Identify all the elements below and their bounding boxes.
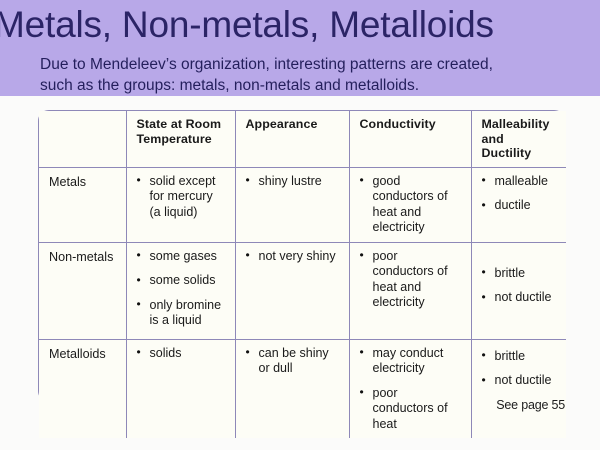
- row-label-metalloids: Metalloids: [39, 339, 126, 438]
- list-item: some solids: [137, 273, 226, 289]
- list-item: may conduct electricity: [360, 346, 462, 377]
- list-item: ductile: [482, 198, 558, 214]
- cell-metals-malleability: malleable ductile: [471, 167, 566, 242]
- column-header-malleability: Malleability and Ductility: [471, 111, 566, 167]
- list-item: malleable: [482, 174, 558, 190]
- list-item: good conductors of heat and electricity: [360, 174, 462, 236]
- list-item: can be shiny or dull: [246, 346, 340, 377]
- cell-metals-conductivity: good conductors of heat and electricity: [349, 167, 471, 242]
- column-header-conductivity: Conductivity: [349, 111, 471, 167]
- see-page-note: See page 55: [0, 398, 565, 412]
- row-label-metals: Metals: [39, 167, 126, 242]
- cell-metalloids-appearance: can be shiny or dull: [235, 339, 349, 438]
- cell-non-metals-appearance: not very shiny: [235, 242, 349, 339]
- cell-non-metals-state: some gases some solids only bromine is a…: [126, 242, 235, 339]
- slide-subtitle: Due to Mendeleev’s organization, interes…: [40, 54, 560, 96]
- table-row: Non-metals some gases some solids only b…: [39, 242, 566, 339]
- table-row: Metals solid except for mercury (a liqui…: [39, 167, 566, 242]
- column-header-blank: [39, 111, 126, 167]
- cell-metals-appearance: shiny lustre: [235, 167, 349, 242]
- cell-non-metals-malleability: brittle not ductile: [471, 242, 566, 339]
- table-row: Metalloids solids can be shiny or dull: [39, 339, 566, 438]
- cell-non-metals-conductivity: poor conductors of heat and electricity: [349, 242, 471, 339]
- cell-metals-state: solid except for mercury (a liquid): [126, 167, 235, 242]
- slide-canvas: Metals, Non-metals, Metalloids Due to Me…: [0, 0, 600, 450]
- column-header-state: State at Room Temperature: [126, 111, 235, 167]
- column-header-appearance: Appearance: [235, 111, 349, 167]
- list-item: solid except for mercury (a liquid): [137, 174, 226, 221]
- list-item: brittle: [482, 266, 558, 282]
- title-band: Metals, Non-metals, Metalloids Due to Me…: [0, 0, 600, 96]
- cell-metalloids-malleability: brittle not ductile: [471, 339, 566, 438]
- list-item: brittle: [482, 349, 558, 365]
- list-item: some gases: [137, 249, 226, 265]
- list-item: shiny lustre: [246, 174, 340, 190]
- list-item: not ductile: [482, 373, 558, 389]
- list-item: not very shiny: [246, 249, 340, 265]
- subtitle-line-1: Due to Mendeleev’s organization, interes…: [40, 54, 560, 75]
- list-item: only bromine is a liquid: [137, 298, 226, 329]
- row-label-non-metals: Non-metals: [39, 242, 126, 339]
- cell-metalloids-state: solids: [126, 339, 235, 438]
- list-item: not ductile: [482, 290, 558, 306]
- page-title: Metals, Non-metals, Metalloids: [0, 2, 600, 48]
- cell-metalloids-conductivity: may conduct electricity poor conductors …: [349, 339, 471, 438]
- properties-table: State at Room Temperature Appearance Con…: [38, 110, 565, 402]
- list-item: poor conductors of heat and electricity: [360, 249, 462, 311]
- table-header-row: State at Room Temperature Appearance Con…: [39, 111, 566, 167]
- list-item: solids: [137, 346, 226, 362]
- subtitle-line-2: such as the groups: metals, non-metals a…: [40, 75, 560, 96]
